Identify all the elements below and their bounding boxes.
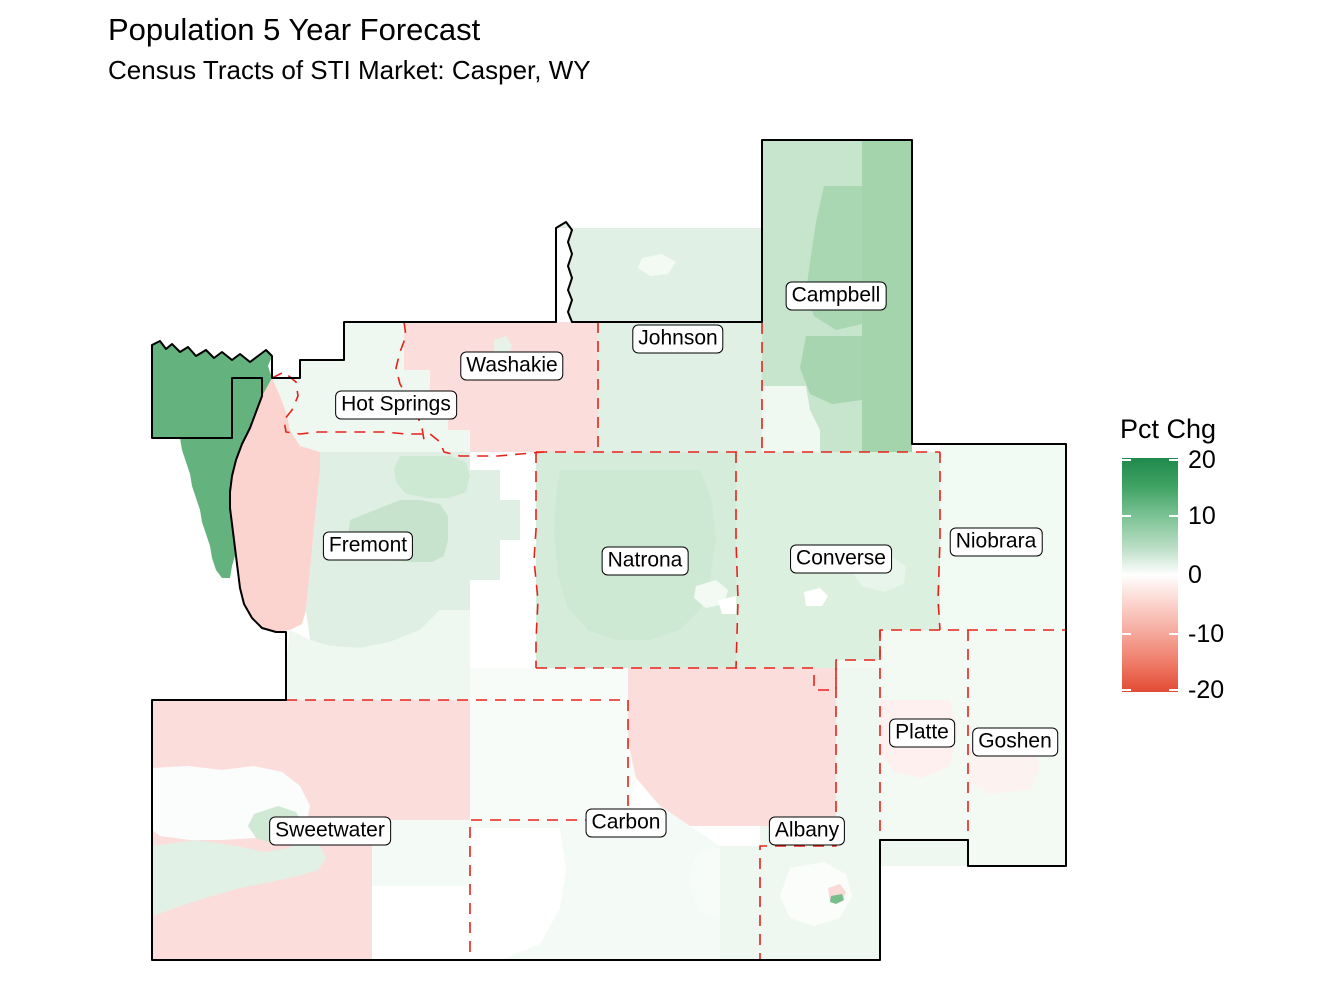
county-label-washakie: Washakie (460, 352, 563, 381)
county-label-natrona: Natrona (602, 547, 689, 576)
legend-tick-label: 10 (1188, 503, 1216, 529)
legend-tick-mark (1169, 459, 1178, 461)
legend-title: Pct Chg (1120, 414, 1216, 444)
legend-tick-mark (1169, 633, 1178, 635)
county-label-goshen: Goshen (972, 728, 1058, 757)
map-svg (0, 0, 1110, 1008)
legend-tick-label: 0 (1188, 562, 1202, 588)
tract-polygon (470, 668, 636, 820)
legend-tick-mark (1169, 515, 1178, 517)
legend-tick-mark (1169, 574, 1178, 576)
county-label-platte: Platte (889, 719, 955, 748)
legend-tick-mark (1122, 633, 1131, 635)
county-label-carbon: Carbon (586, 809, 667, 838)
county-label-hot-springs: Hot Springs (335, 391, 457, 420)
tract-polygon (394, 456, 470, 498)
legend-tick-mark (1169, 689, 1178, 691)
legend-tick-label: 20 (1188, 447, 1216, 473)
county-label-sweetwater: Sweetwater (269, 817, 391, 846)
map-page: Population 5 Year Forecast Census Tracts… (0, 0, 1344, 1008)
legend-tick-mark (1122, 689, 1131, 691)
county-label-campbell: Campbell (786, 282, 887, 311)
legend-colorbar-wrap (1122, 458, 1178, 692)
county-label-fremont: Fremont (323, 532, 413, 561)
legend-tick-label: -20 (1188, 677, 1224, 703)
county-label-johnson: Johnson (632, 325, 723, 354)
legend-tick-label: -10 (1188, 621, 1224, 647)
legend-tick-mark (1122, 459, 1131, 461)
county-label-albany: Albany (769, 817, 845, 846)
legend: Pct Chg (1118, 414, 1338, 704)
county-label-converse: Converse (790, 545, 892, 574)
choropleth-map: Campbell Johnson Washakie Hot Springs Fr… (0, 0, 1110, 1008)
county-label-niobrara: Niobrara (950, 528, 1043, 557)
legend-tick-mark (1122, 574, 1131, 576)
legend-tick-mark (1122, 515, 1131, 517)
